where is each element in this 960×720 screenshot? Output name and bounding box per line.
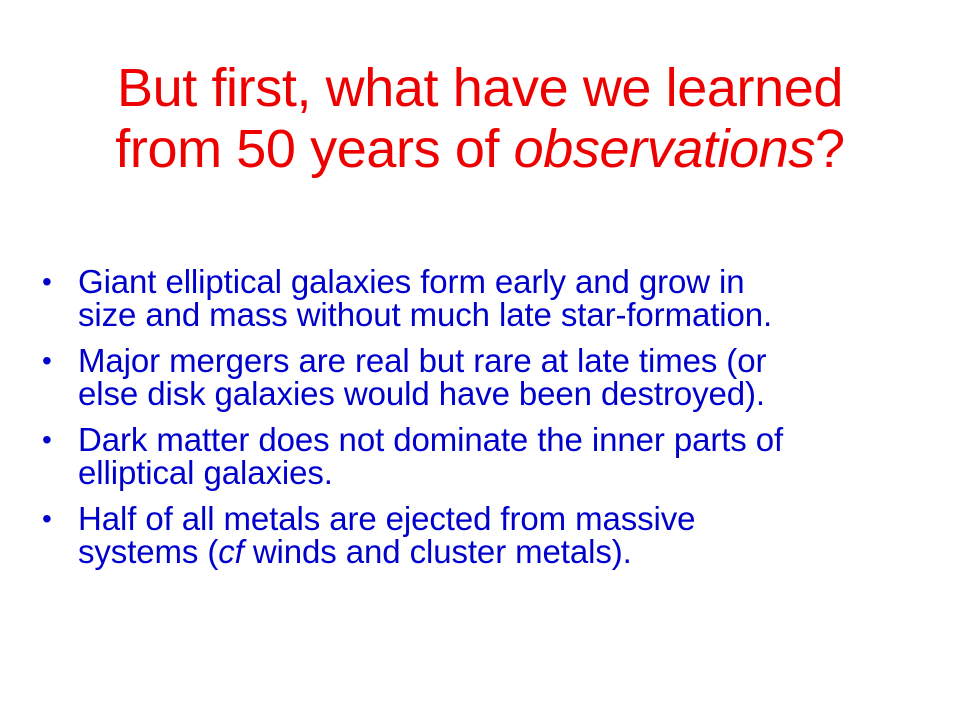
title-line-2-prefix: from 50 years of (115, 119, 513, 179)
list-item: • Dark matter does not dominate the inne… (38, 424, 938, 489)
slide-title: But first, what have we learned from 50 … (0, 58, 960, 180)
bullet-2-line-1: Major mergers are real but rare at late … (78, 345, 938, 378)
title-emphasis-observations: observations (514, 119, 815, 179)
bullet-2-line-2: else disk galaxies would have been destr… (78, 378, 938, 411)
bullet-text-1: Giant elliptical galaxies form early and… (78, 266, 938, 331)
bullet-dot-icon: • (38, 503, 78, 536)
title-line-2-suffix: ? (815, 119, 845, 179)
bullet-4-line-2: systems (cf winds and cluster metals). (78, 536, 938, 569)
bullet-text-4: Half of all metals are ejected from mass… (78, 503, 938, 568)
bullet-list: • Giant elliptical galaxies form early a… (38, 266, 938, 568)
title-line-1: But first, what have we learned (0, 58, 960, 119)
bullet-1-line-1: Giant elliptical galaxies form early and… (78, 266, 938, 299)
bullet-4-emphasis-cf: cf (218, 533, 243, 570)
list-item: • Half of all metals are ejected from ma… (38, 503, 938, 568)
bullet-dot-icon: • (38, 345, 78, 378)
title-line-2: from 50 years of observations? (0, 119, 960, 180)
slide-canvas: But first, what have we learned from 50 … (0, 0, 960, 720)
bullet-3-line-1: Dark matter does not dominate the inner … (78, 424, 938, 457)
bullet-text-3: Dark matter does not dominate the inner … (78, 424, 938, 489)
bullet-3-line-2: elliptical galaxies. (78, 457, 938, 490)
bullet-dot-icon: • (38, 266, 78, 299)
bullet-text-2: Major mergers are real but rare at late … (78, 345, 938, 410)
list-item: • Giant elliptical galaxies form early a… (38, 266, 938, 331)
bullet-dot-icon: • (38, 424, 78, 457)
bullet-4-line-1: Half of all metals are ejected from mass… (78, 503, 938, 536)
bullet-1-line-2: size and mass without much late star-for… (78, 299, 938, 332)
list-item: • Major mergers are real but rare at lat… (38, 345, 938, 410)
bullet-4-line-2-suffix: winds and cluster metals). (244, 533, 632, 570)
bullet-4-line-2-prefix: systems ( (78, 533, 218, 570)
